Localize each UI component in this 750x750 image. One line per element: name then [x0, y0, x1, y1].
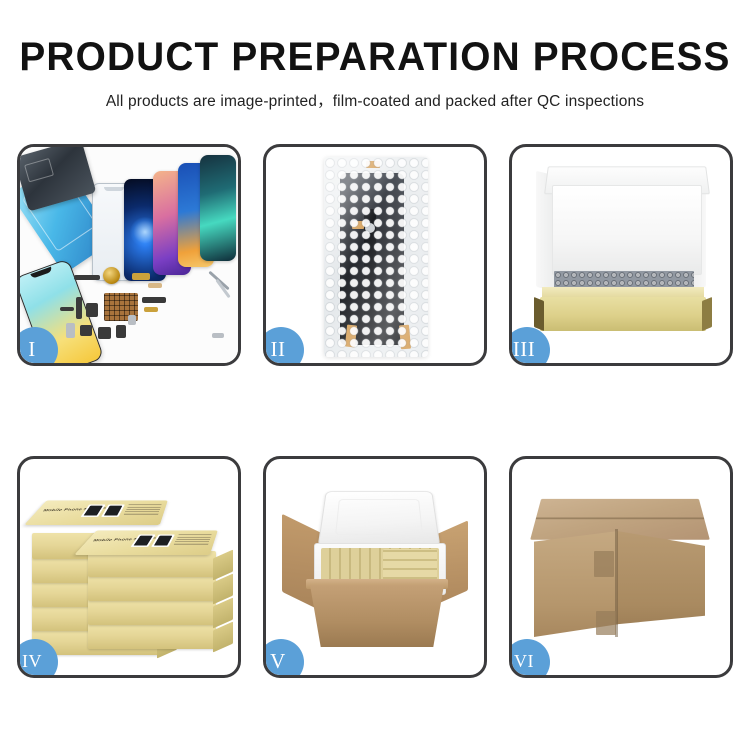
process-step-panel-1[interactable]: I: [17, 144, 241, 366]
box-spec-lines: [122, 505, 161, 518]
spare-part-icon: [132, 273, 150, 280]
retail-box: [88, 575, 216, 601]
box-spec-lines: [172, 535, 211, 548]
retail-box-stack: Mobile Phone Spare Parts Mobile Phone Sp…: [26, 473, 238, 669]
phone-display-green-icon: [200, 155, 236, 261]
spare-part-icon: [74, 275, 100, 280]
process-step-grid: I II III: [17, 144, 733, 678]
page-title: PRODUCT PREPARATION PROCESS: [11, 36, 739, 78]
carton-right-face: [617, 531, 705, 637]
bubble-wrap-bag: [324, 157, 428, 357]
spare-part-icon: [128, 315, 136, 325]
spare-part-icon: [148, 283, 162, 288]
page-header: PRODUCT PREPARATION PROCESS All products…: [0, 0, 750, 111]
yellow-carton-front: [540, 297, 706, 331]
carton-tape-lower: [596, 611, 616, 635]
spare-part-icon: [66, 323, 75, 338]
product-assortment-illustration: [20, 147, 238, 363]
spare-part-icon: [116, 325, 126, 338]
process-step-panel-3[interactable]: III: [509, 144, 733, 366]
spare-part-icon: [86, 303, 98, 317]
retail-box-lid-back: Mobile Phone Spare Parts: [24, 500, 168, 525]
spare-part-icon: [98, 327, 111, 339]
process-step-panel-4[interactable]: Mobile Phone Spare Parts Mobile Phone Sp…: [17, 456, 241, 678]
spare-part-icon: [60, 307, 74, 311]
process-step-panel-6[interactable]: VI: [509, 456, 733, 678]
process-step-panel-2[interactable]: II: [263, 144, 487, 366]
foam-box-packing-illustration: [512, 147, 730, 363]
retail-box-lid-front: Mobile Phone Spare Parts: [74, 530, 218, 555]
spare-part-icon: [144, 307, 158, 312]
speaker-module-icon: [103, 267, 120, 284]
plastic-sheen-icon: [324, 157, 428, 357]
spare-part-icon: [80, 325, 92, 336]
bubble-wrap-packing-illustration: [266, 147, 484, 363]
master-carton-filling-illustration: [266, 459, 484, 675]
foam-sheet-icon: [552, 185, 702, 275]
carton-tape-upper: [594, 551, 614, 577]
page-subtitle: All products are image-printed，film-coat…: [0, 89, 750, 111]
retail-box: [88, 599, 216, 625]
carton-body: [310, 585, 444, 647]
spare-part-icon: [142, 297, 166, 303]
sealed-carton-illustration: [512, 459, 730, 675]
process-step-panel-5[interactable]: V: [263, 456, 487, 678]
spare-part-icon: [76, 297, 82, 319]
boxed-stack-illustration: Mobile Phone Spare Parts Mobile Phone Sp…: [20, 459, 238, 675]
spare-part-icon: [212, 333, 224, 338]
foam-lid-icon: [318, 491, 441, 546]
retail-box: [88, 623, 216, 649]
